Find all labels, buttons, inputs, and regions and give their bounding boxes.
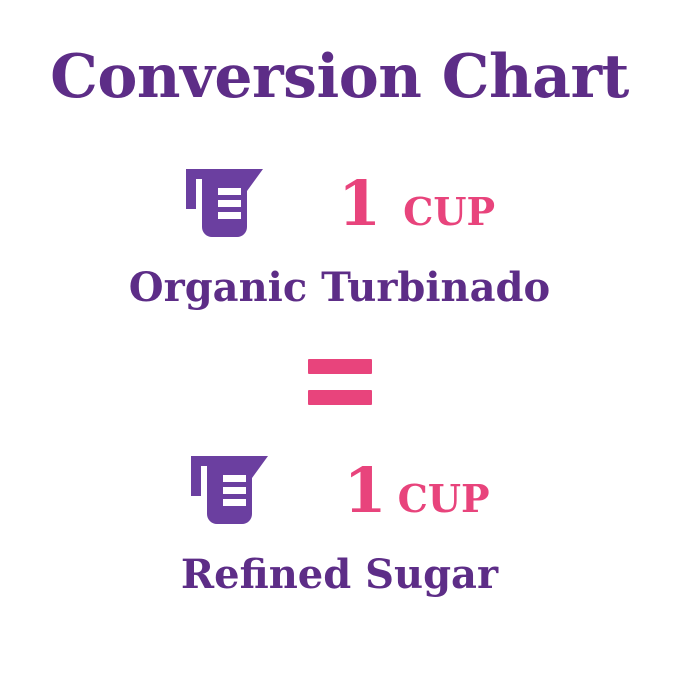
quantity-unit-top: CUP bbox=[403, 193, 495, 231]
amount-row-bottom: 1 CUP bbox=[0, 447, 679, 535]
equals-bar-lower bbox=[308, 390, 372, 405]
equals-bar-upper bbox=[308, 359, 372, 374]
page-title: Conversion Chart bbox=[0, 47, 679, 107]
ingredient-name-top: Organic Turbinado bbox=[0, 268, 679, 308]
conversion-item-bottom: 1 CUP Refined Sugar bbox=[0, 447, 679, 595]
quantity-number-top: 1 bbox=[338, 173, 381, 235]
measuring-cup-icon bbox=[189, 452, 271, 530]
quantity-bottom: 1 CUP bbox=[343, 460, 489, 522]
ingredient-name-bottom: Refined Sugar bbox=[0, 555, 679, 595]
conversion-chart-canvas: Conversion Chart 1 CUP Or bbox=[0, 0, 679, 679]
quantity-number-bottom: 1 bbox=[343, 460, 386, 522]
conversion-item-top: 1 CUP Organic Turbinado bbox=[0, 160, 679, 308]
amount-row-top: 1 CUP bbox=[0, 160, 679, 248]
equals-sign bbox=[0, 359, 679, 405]
quantity-unit-bottom: CUP bbox=[398, 480, 490, 518]
measuring-cup-icon bbox=[184, 165, 266, 243]
quantity-top: 1 CUP bbox=[338, 173, 495, 235]
